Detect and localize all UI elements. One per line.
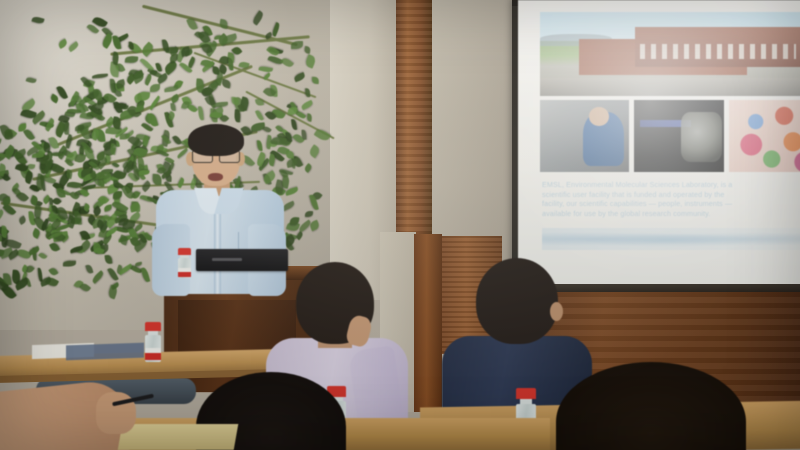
bottle-back-table[interactable] [145, 322, 161, 362]
plant-leaf [259, 65, 273, 73]
plant-leaf [67, 41, 79, 52]
slide-body-text: EMSL, Environmental Molecular Sciences L… [542, 180, 800, 218]
plant-leaf [303, 46, 310, 54]
plant-leaf [314, 127, 331, 142]
plant-leaf [92, 73, 108, 78]
plant-leaf [168, 111, 177, 120]
plant-leaf [234, 110, 241, 123]
hero-hill [540, 34, 612, 46]
plant-leaf [138, 91, 150, 101]
bottle-cap [516, 388, 536, 399]
plant-leaf [138, 170, 150, 176]
plant-leaf [271, 22, 281, 37]
plant-leaf [105, 254, 113, 264]
plant-leaf [113, 190, 122, 198]
attendee-navy-head [476, 258, 558, 344]
speaker-hair [188, 124, 244, 156]
bottle-cap [178, 248, 191, 255]
plant-leaf [305, 211, 314, 217]
plant-leaf [0, 138, 2, 147]
plant-leaf [280, 56, 294, 69]
plant-leaf [303, 163, 313, 173]
plant-leaf [219, 19, 228, 29]
plant-leaf [305, 88, 310, 97]
plant-leaf [48, 266, 58, 277]
bottle-cap [145, 322, 161, 331]
plant-leaf [305, 54, 317, 68]
conference-room-photo: EMSL, Environmental Molecular Sciences L… [0, 0, 800, 450]
plant-leaf [57, 38, 69, 49]
bottle-label [178, 268, 191, 277]
plant-leaf [294, 72, 307, 82]
bottle-body [145, 335, 161, 362]
plant-leaf [212, 66, 220, 75]
plant-leaf [94, 88, 103, 101]
plant-leaf [57, 187, 66, 198]
plant-leaf [0, 225, 7, 238]
plant-leaf [86, 264, 94, 274]
plant-leaf [50, 93, 60, 103]
plant-leaf [228, 58, 233, 70]
slide-body-line-1: EMSL, Environmental Molecular Sciences L… [542, 180, 800, 190]
plant-leaf [150, 84, 160, 92]
plant-leaf [43, 118, 56, 132]
plant-leaf [38, 252, 48, 261]
plant-leaf [171, 103, 176, 111]
bottle-label [145, 348, 161, 360]
plant-leaf [302, 129, 307, 139]
plant-leaf [163, 86, 178, 92]
bottle-body [178, 258, 191, 278]
slide-body-line-3: facility, our scientific capabilities — … [542, 199, 800, 209]
plant-leaf [307, 145, 320, 159]
speaker-mouth [208, 173, 223, 181]
plant-leaf [221, 79, 232, 89]
plant-leaf [144, 74, 154, 86]
slide-footer-band [542, 228, 800, 250]
slide-thumbnail-row [540, 100, 800, 172]
plant-leaf [312, 77, 319, 84]
plant-leaf [91, 171, 96, 179]
plant-leaf [31, 15, 44, 24]
projection-screen: EMSL, Environmental Molecular Sciences L… [518, 0, 800, 286]
plant-leaf [300, 100, 313, 110]
hero-road [540, 78, 800, 96]
plant-leaf [138, 156, 145, 169]
plant-leaf [18, 216, 27, 225]
slide-body-line-4: available for use by the global research… [542, 209, 800, 219]
plant-leaf [26, 77, 37, 85]
hero-windows [640, 44, 796, 59]
plant-leaf [162, 39, 170, 53]
slide-footer-logos [542, 228, 800, 250]
slide: EMSL, Environmental Molecular Sciences L… [518, 0, 800, 286]
thumbnail-scientist-at-instrument [540, 100, 629, 172]
plant-leaf [251, 11, 265, 26]
plant-leaf [63, 261, 76, 267]
plant-leaf [163, 60, 179, 75]
blue-desk-mat [66, 343, 144, 361]
thumbnail-dark-instrumentation [634, 100, 723, 172]
plant-leaf [255, 109, 264, 121]
slide-hero-image [540, 12, 800, 96]
plant-leaf [140, 42, 155, 57]
plant-leaf [49, 136, 60, 150]
plant-leaf [198, 106, 204, 120]
plant-leaf [68, 211, 73, 219]
plant-leaf [306, 113, 313, 122]
plant-leaf [255, 98, 264, 107]
plant-leaf [128, 42, 133, 50]
thumbnail-molecular-structure [729, 100, 800, 172]
laptop-logo [212, 258, 242, 261]
plant-leaf [49, 241, 60, 253]
plant-leaf [125, 55, 139, 63]
slide-body-line-2: scientific user facility that is funded … [542, 190, 800, 200]
plant-leaf [0, 209, 5, 224]
plant-leaf [291, 41, 303, 49]
yellow-notepad [118, 424, 239, 450]
bottle-podium[interactable] [178, 248, 191, 278]
plant-leaf [239, 96, 250, 110]
attendee-navy-ear [550, 302, 563, 321]
